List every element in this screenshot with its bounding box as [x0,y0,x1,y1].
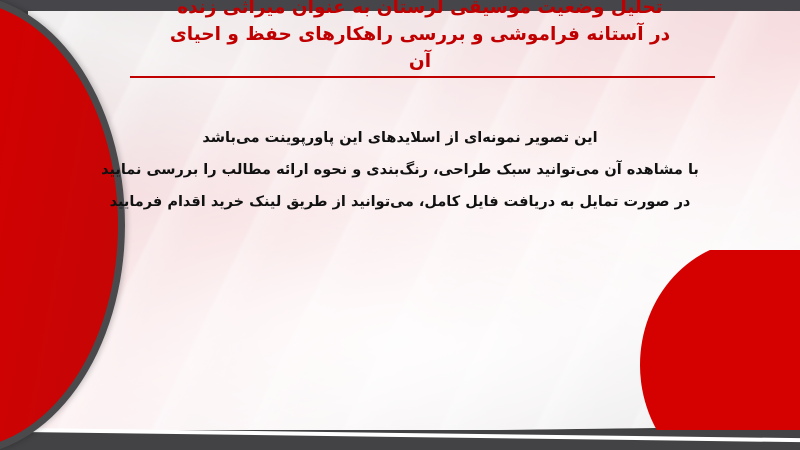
presentation-slide: تحلیل وضعیت موسیقی لرستان به عنوان میراث… [0,0,800,450]
red-ellipse-shape [0,0,125,450]
right-red-corner-decoration [590,250,800,450]
body-line-2: با مشاهده آن می‌توانید سبک طراحی، رنگ‌بن… [100,154,700,186]
slide-title: تحلیل وضعیت موسیقی لرستان به عنوان میراث… [120,0,720,75]
slide-body-text: این تصویر نمونه‌ای از اسلایدهای این پاور… [100,122,700,218]
left-red-ellipse-decoration [0,0,125,450]
red-corner-shape [640,250,800,450]
title-line-2: در آستانه فراموشی و بررسی راهکارهای حفظ … [120,21,720,48]
title-divider-rule [130,76,715,78]
body-line-1: این تصویر نمونه‌ای از اسلایدهای این پاور… [100,122,700,154]
title-line-3: آن [120,48,720,75]
title-line-1: تحلیل وضعیت موسیقی لرستان به عنوان میراث… [120,0,720,21]
body-line-3: در صورت تمایل به دریافت فایل کامل، می‌تو… [100,186,700,218]
